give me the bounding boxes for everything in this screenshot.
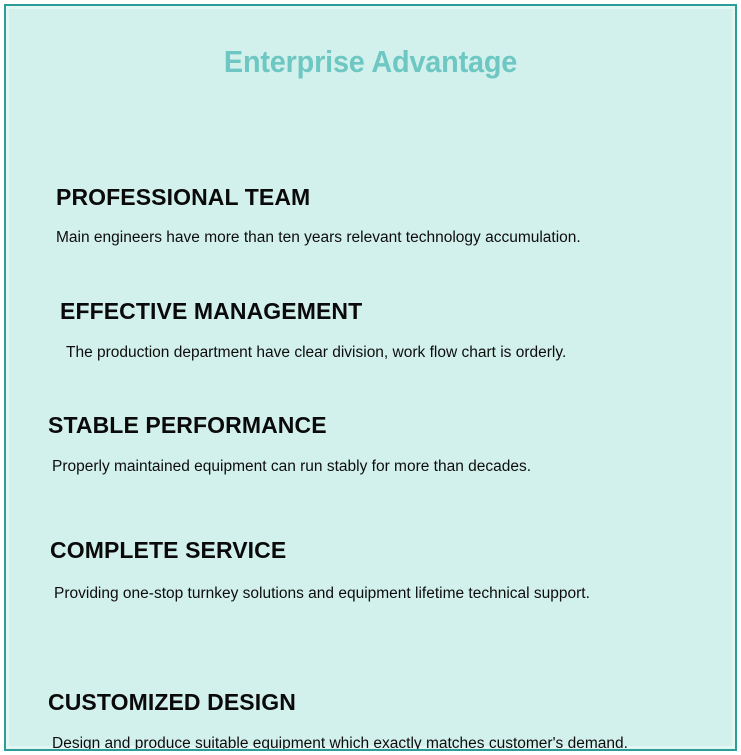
section-body-professional-team: Main engineers have more than ten years … <box>56 225 696 250</box>
section-body-customized-design: Design and produce suitable equipment wh… <box>52 731 648 751</box>
advantage-section: PROFESSIONAL TEAM Main engineers have mo… <box>56 185 696 250</box>
section-heading-stable-performance: STABLE PERFORMANCE <box>48 413 688 438</box>
section-body-complete-service: Providing one-stop turnkey solutions and… <box>54 581 648 606</box>
section-heading-professional-team: PROFESSIONAL TEAM <box>56 185 696 210</box>
advantage-section: EFFECTIVE MANAGEMENT The production depa… <box>60 299 690 365</box>
section-body-effective-management: The production department have clear div… <box>66 340 690 365</box>
section-body-stable-performance: Properly maintained equipment can run st… <box>52 454 688 479</box>
advantage-section: STABLE PERFORMANCE Properly maintained e… <box>48 413 688 479</box>
advantage-section: COMPLETE SERVICE Providing one-stop turn… <box>50 538 648 606</box>
section-heading-effective-management: EFFECTIVE MANAGEMENT <box>60 299 690 324</box>
page-title: Enterprise Advantage <box>32 6 710 77</box>
advantage-section: CUSTOMIZED DESIGN Design and produce sui… <box>48 690 648 751</box>
section-heading-complete-service: COMPLETE SERVICE <box>50 538 648 563</box>
enterprise-advantage-panel: Enterprise Advantage PROFESSIONAL TEAM M… <box>4 4 737 751</box>
section-heading-customized-design: CUSTOMIZED DESIGN <box>48 690 648 715</box>
